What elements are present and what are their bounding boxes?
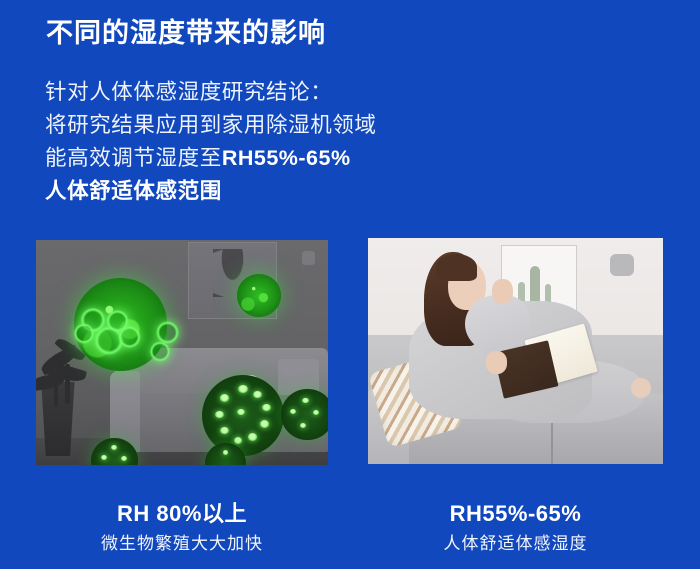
microbe-small-icon [237,274,281,317]
caption-high-humidity: RH 80%以上 微生物繁殖大大加快 [36,500,328,557]
photo-comfort-humidity [368,238,663,464]
poster-root: 不同的湿度带来的影响 针对人体体感湿度研究结论： 将研究结果应用到家用除湿机领域… [0,0,700,569]
dim-room-scene [36,240,328,465]
caption-subtitle: 人体舒适体感湿度 [368,531,663,557]
microbe-dark-icon [281,389,328,441]
wall-speaker-icon [610,254,634,277]
caption-subtitle: 微生物繁殖大大加快 [36,531,328,557]
copy-line-1: 针对人体体感湿度研究结论： [45,76,377,109]
caption-title: RH 80%以上 [36,500,328,528]
microbe-dark-icon [202,375,284,456]
plant-stem-icon [54,357,58,407]
photo-high-humidity [36,240,328,465]
microbe-cell-icon [156,321,179,344]
page-title: 不同的湿度带来的影响 [46,17,326,51]
copy-line-3: 能高效调节湿度至RH55%-65% [45,142,377,175]
person-hair-top [436,254,477,281]
copy-line-4: 人体舒适体感范围 [45,175,377,208]
person-hand [492,279,513,304]
microbe-cell-icon [74,323,94,343]
copy-line-3-highlight: RH55%-65% [222,146,351,170]
copy-line-3-plain: 能高效调节湿度至 [45,146,222,170]
person-hand [486,351,507,374]
copy-line-2: 将研究结果应用到家用除湿机领域 [45,109,377,142]
body-copy: 针对人体体感湿度研究结论： 将研究结果应用到家用除湿机领域 能高效调节湿度至RH… [45,76,377,208]
plant-stem-icon [65,364,69,405]
caption-comfort-humidity: RH55%-65% 人体舒适体感湿度 [368,500,663,557]
microbe-cell-icon [118,326,141,349]
caption-title: RH55%-65% [368,500,663,528]
microbe-cell-icon [150,341,170,361]
dim-wall-speaker [302,251,315,265]
bright-room-scene [368,238,663,464]
